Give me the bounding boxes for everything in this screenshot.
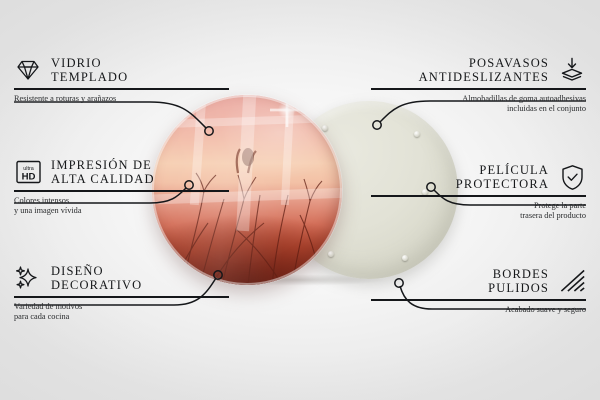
feature-bordes-pulidos: BORDES PULIDOS Acabado suave y seguro [371, 267, 586, 315]
feature-impresion-alta-calidad: ultra HD IMPRESIÓN DE ALTA CALIDAD Color… [14, 158, 229, 216]
feature-description: Protege la parte trasera del producto [371, 201, 586, 222]
feature-diseno-decorativo: DISEÑO DECORATIVO Variedad de motivos pa… [14, 264, 229, 322]
feature-posavasos-antideslizantes: POSAVASOS ANTIDESLIZANTES Almohadillas d… [371, 56, 586, 114]
feature-rule [14, 296, 229, 298]
feature-rule [14, 88, 229, 90]
feature-description: Almohadillas de goma autoadhesivas inclu… [371, 94, 586, 115]
infographic-canvas: VIDRIO TEMPLADO Resistente a roturas y a… [0, 0, 600, 400]
feature-title: BORDES PULIDOS [488, 267, 549, 295]
feature-title: VIDRIO TEMPLADO [51, 56, 128, 84]
diagonal-lines-icon [558, 267, 586, 295]
feature-rule [14, 190, 229, 192]
diamond-icon [14, 56, 42, 84]
arrow-onto-layers-icon [558, 56, 586, 84]
feature-rule [371, 195, 586, 197]
svg-text:HD: HD [21, 172, 35, 183]
feature-vidrio-templado: VIDRIO TEMPLADO Resistente a roturas y a… [14, 56, 229, 104]
feature-rule [371, 88, 586, 90]
feature-description: Resistente a roturas y arañazos [14, 94, 229, 104]
shield-check-icon [558, 163, 586, 191]
feature-description: Acabado suave y seguro [371, 305, 586, 315]
feature-description: Variedad de motivos para cada cocina [14, 302, 229, 323]
rubber-pad [414, 131, 420, 137]
feature-description: Colores intensos y una imagen vívida [14, 196, 229, 217]
feature-title: DISEÑO DECORATIVO [51, 264, 142, 292]
ultra-hd-badge-icon: ultra HD [14, 158, 42, 186]
feature-title: IMPRESIÓN DE ALTA CALIDAD [51, 158, 155, 186]
feature-title: POSAVASOS ANTIDESLIZANTES [419, 56, 549, 84]
feature-rule [371, 299, 586, 301]
rubber-pad [402, 255, 408, 261]
feature-pelicula-protectora: PELÍCULA PROTECTORA Protege la parte tra… [371, 163, 586, 221]
sparkles-icon [14, 264, 42, 292]
feature-title: PELÍCULA PROTECTORA [456, 163, 549, 191]
